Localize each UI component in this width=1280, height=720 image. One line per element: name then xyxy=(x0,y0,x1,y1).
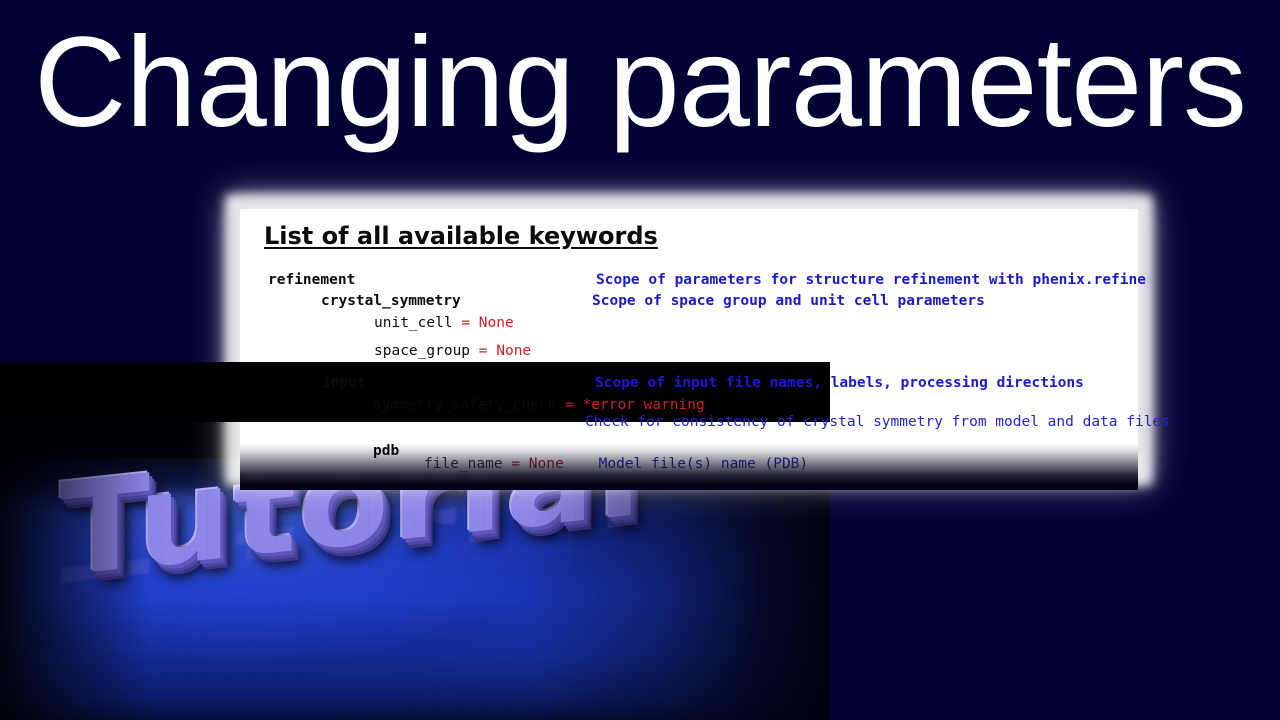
description-crystal-symmetry: Scope of space group and unit cell param… xyxy=(592,293,985,309)
param-file-name-equals: = xyxy=(511,456,520,472)
param-symmetry-safety-check: symmetry_safety_check = *error warning xyxy=(373,397,705,413)
description-refinement: Scope of parameters for structure refine… xyxy=(596,272,1146,288)
keyword-input: input xyxy=(322,375,366,391)
param-space-group-key: space_group xyxy=(374,343,470,359)
description-file-name: Model file(s) name (PDB) xyxy=(599,456,809,472)
param-space-group: space_group = None xyxy=(374,343,531,359)
param-file-name: file_name = None Model file(s) name (PDB… xyxy=(424,456,808,472)
param-unit-cell-equals: = xyxy=(461,315,470,331)
keyword-crystal-symmetry: crystal_symmetry xyxy=(321,293,461,309)
param-unit-cell-key: unit_cell xyxy=(374,315,453,331)
param-symmetry-safety-check-equals: = xyxy=(565,397,574,413)
param-unit-cell: unit_cell = None xyxy=(374,315,514,331)
keyword-pdb: pdb xyxy=(373,443,399,459)
description-input: Scope of input file names, labels, proce… xyxy=(595,375,1084,391)
slide-canvas: Changing parameters Tutorial Tutorial Li… xyxy=(0,0,1280,720)
keywords-screenshot-panel: List of all available keywords refinemen… xyxy=(240,209,1138,471)
page-title: Changing parameters xyxy=(0,16,1280,150)
param-file-name-value: None xyxy=(529,456,564,472)
panel-content: List of all available keywords refinemen… xyxy=(240,209,1138,471)
param-unit-cell-value: None xyxy=(479,315,514,331)
param-symmetry-safety-check-value: *error warning xyxy=(583,397,705,413)
param-file-name-key: file_name xyxy=(424,456,503,472)
description-symmetry-safety-check: Check for consistency of crystal symmetr… xyxy=(585,414,1170,430)
keyword-refinement: refinement xyxy=(268,272,355,288)
param-symmetry-safety-check-key: symmetry_safety_check xyxy=(373,397,556,413)
panel-heading: List of all available keywords xyxy=(264,222,658,250)
param-space-group-equals: = xyxy=(479,343,488,359)
param-space-group-value: None xyxy=(496,343,531,359)
